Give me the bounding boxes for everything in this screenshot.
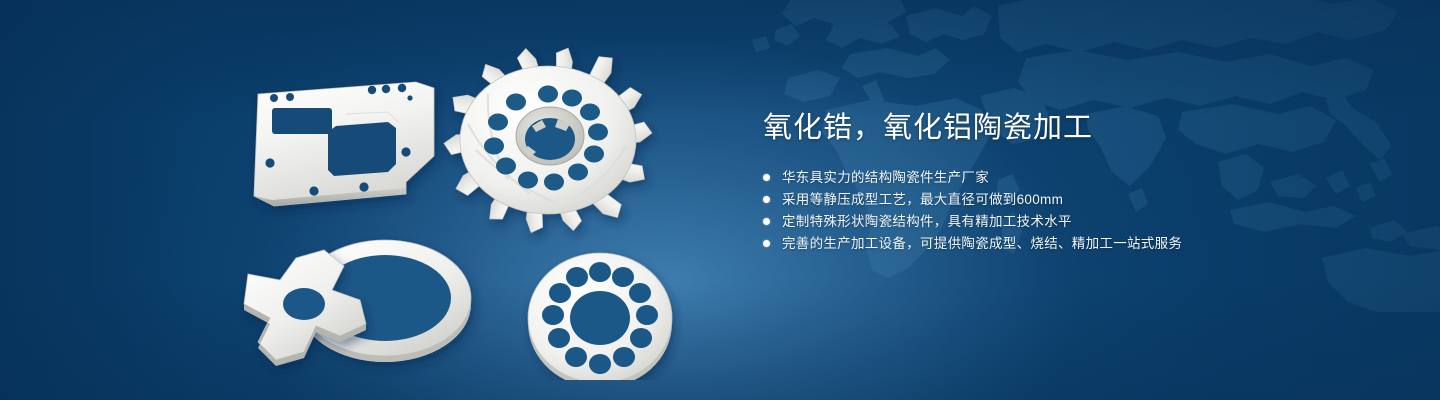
feature-item: 华东具实力的结构陶瓷件生产厂家 — [763, 170, 1383, 185]
feature-item: 采用等静压成型工艺，最大直径可做到600mm — [763, 192, 1383, 207]
ceramic-products-image — [230, 30, 720, 380]
banner-headline: 氧化锆，氧化铝陶瓷加工 — [763, 108, 1383, 148]
feature-item-label: 华东具实力的结构陶瓷件生产厂家 — [782, 170, 989, 185]
ceramic-perforated-disc-part — [528, 253, 672, 380]
feature-item-label: 采用等静压成型工艺，最大直径可做到600mm — [782, 192, 1063, 207]
promo-banner: 氧化锆，氧化铝陶瓷加工 华东具实力的结构陶瓷件生产厂家 采用等静压成型工艺，最大… — [0, 0, 1440, 400]
feature-item: 定制特殊形状陶瓷结构件，具有精加工技术水平 — [763, 214, 1383, 229]
banner-copy: 氧化锆，氧化铝陶瓷加工 华东具实力的结构陶瓷件生产厂家 采用等静压成型工艺，最大… — [763, 108, 1383, 258]
bullet-dot-icon — [763, 218, 770, 225]
feature-item-label: 定制特殊形状陶瓷结构件，具有精加工技术水平 — [782, 214, 1072, 229]
feature-item: 完善的生产加工设备，可提供陶瓷成型、烧结、精加工一站式服务 — [763, 236, 1383, 251]
feature-item-label: 完善的生产加工设备，可提供陶瓷成型、烧结、精加工一站式服务 — [782, 236, 1182, 251]
ceramic-impeller-part — [443, 45, 652, 235]
ceramic-plate-part — [254, 82, 434, 206]
bullet-dot-icon — [763, 196, 770, 203]
bullet-dot-icon — [763, 174, 770, 181]
banner-feature-list: 华东具实力的结构陶瓷件生产厂家 采用等静压成型工艺，最大直径可做到600mm 定… — [763, 170, 1383, 251]
bullet-dot-icon — [763, 240, 770, 247]
